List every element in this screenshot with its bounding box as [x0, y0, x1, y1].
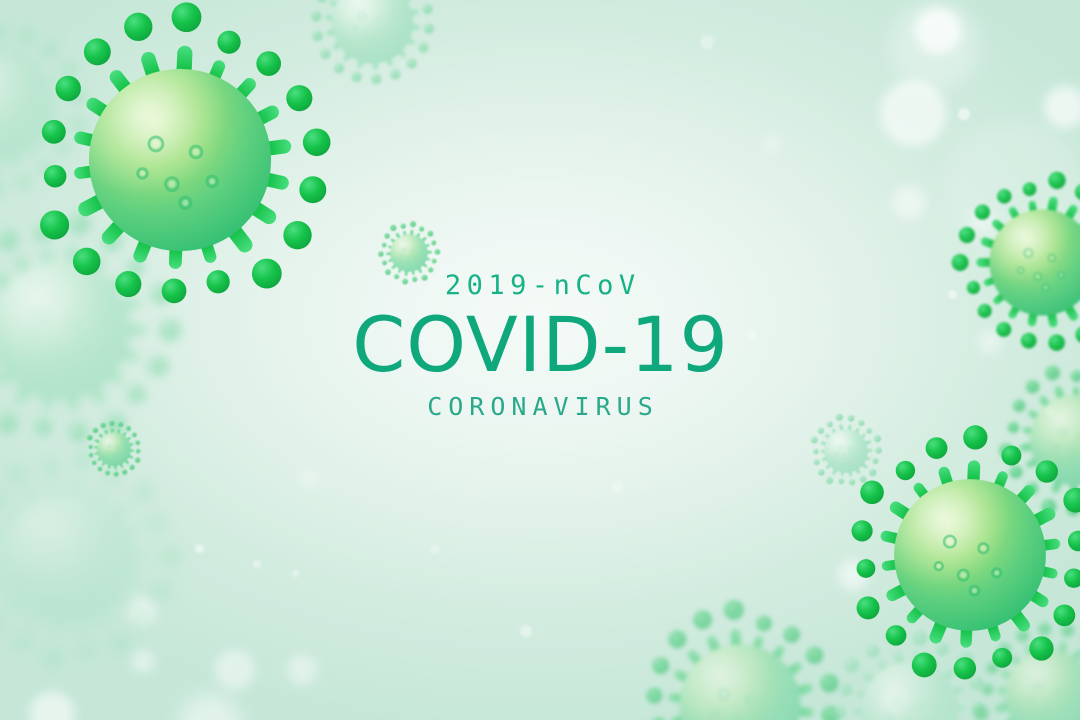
- page-title-covid19: COVID-19: [0, 305, 1080, 386]
- virus-bottom-right-pale: [830, 630, 990, 720]
- bokeh-circle: [890, 0, 980, 90]
- bokeh-circle: [287, 655, 317, 685]
- virus-small-rightmid: [810, 415, 882, 487]
- bokeh-circle: [892, 186, 926, 220]
- bokeh-circle: [430, 545, 439, 554]
- bokeh-circle: [700, 35, 714, 49]
- bokeh-circle: [880, 690, 906, 716]
- virus-bottom-far-right: [975, 620, 1080, 720]
- virus-large-bottomright: [845, 430, 1080, 680]
- bokeh-circle: [764, 136, 780, 152]
- supertitle-2019-ncov: 2019-nCoV: [0, 272, 1080, 299]
- bokeh-circle: [30, 692, 74, 720]
- bokeh-circle: [958, 108, 970, 120]
- title-block: 2019-nCoV COVID-19 CORONAVIRUS: [0, 272, 1080, 419]
- virus-large-topleft: [30, 10, 330, 310]
- virus-medium-top: [305, 0, 440, 90]
- bokeh-circle: [945, 120, 1080, 260]
- bokeh-circle: [195, 544, 204, 553]
- virus-bottom-center: [640, 605, 840, 720]
- bokeh-circle: [970, 206, 996, 232]
- bokeh-circle: [880, 80, 946, 146]
- bokeh-circle: [1044, 86, 1080, 128]
- poster-canvas: 2019-nCoV COVID-19 CORONAVIRUS: [0, 0, 1080, 720]
- subtitle-coronavirus: CORONAVIRUS: [0, 394, 1080, 419]
- bokeh-circle: [128, 598, 156, 626]
- bokeh-circle: [300, 470, 318, 488]
- bokeh-circle: [253, 560, 261, 568]
- bokeh-circle: [132, 650, 154, 672]
- bokeh-circle: [915, 8, 961, 54]
- virus-blurred-bottomleft: [0, 450, 175, 665]
- virus-blurred-farleft-top: [0, 20, 85, 195]
- bokeh-circle: [180, 694, 240, 720]
- bokeh-circle: [520, 625, 532, 637]
- bokeh-circle: [215, 650, 255, 690]
- bokeh-circle: [838, 560, 868, 590]
- bokeh-circle: [292, 570, 299, 577]
- bokeh-circle: [612, 482, 622, 492]
- virus-small-left: [86, 421, 142, 477]
